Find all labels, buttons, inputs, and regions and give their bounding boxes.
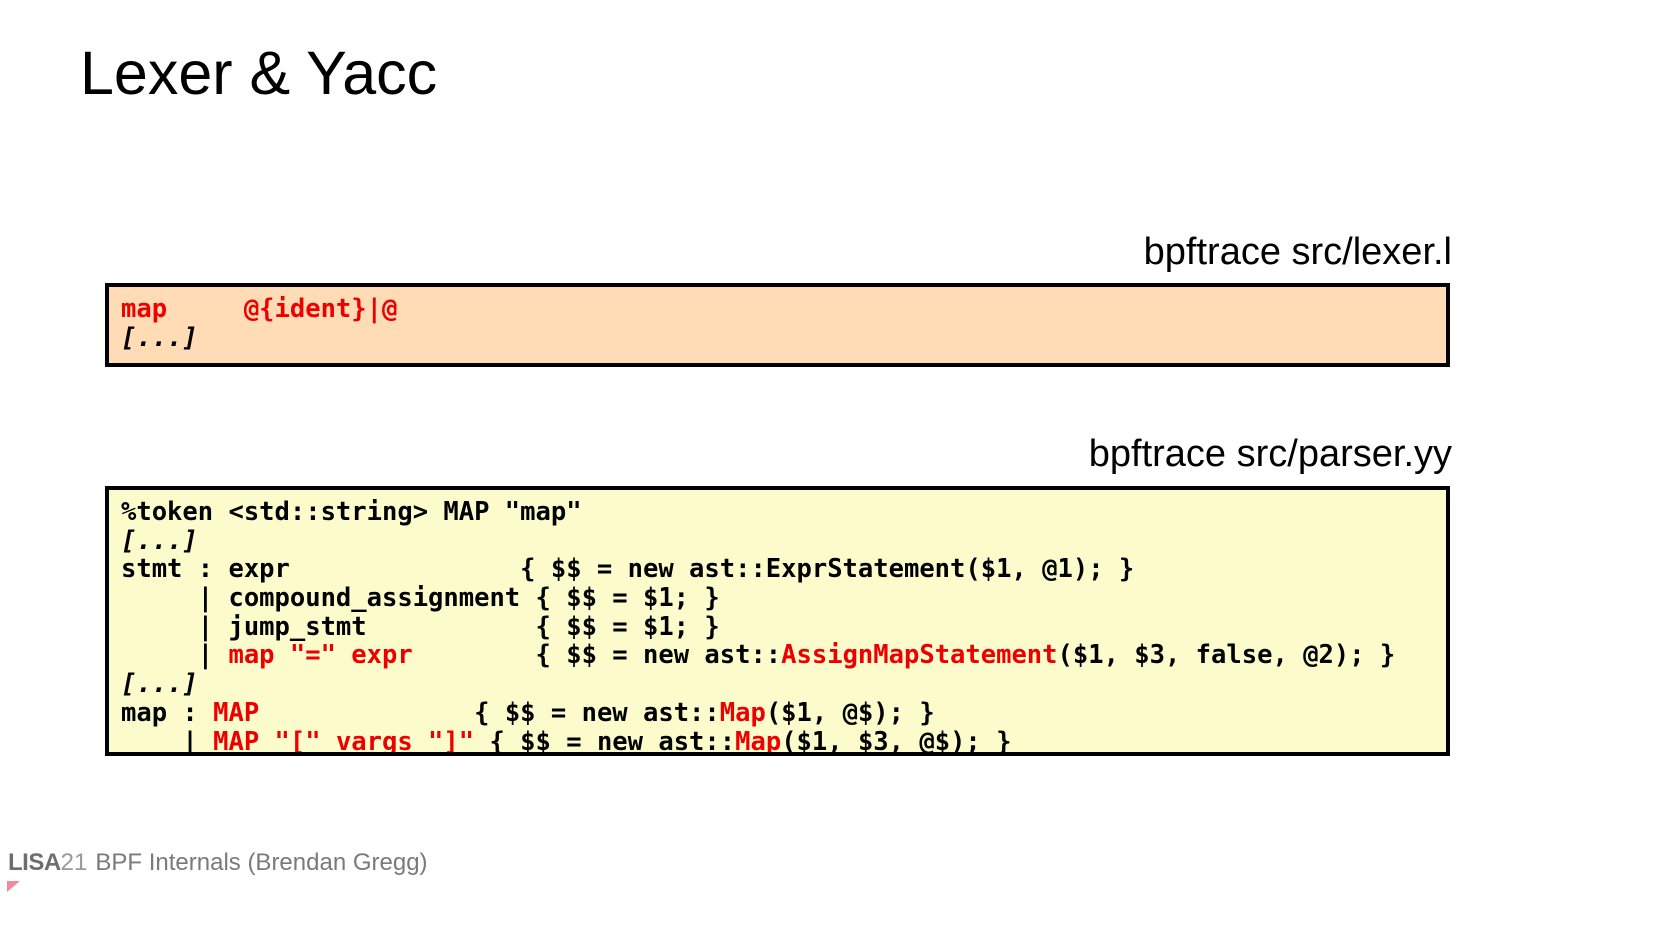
code-token: { $$ = new ast::: [413, 640, 781, 670]
code-token: %token <std::string> MAP "map": [121, 497, 582, 527]
code-line: | compound_assignment { $$ = $1; }: [121, 584, 1446, 613]
code-token: Map: [735, 727, 781, 757]
page-title: Lexer & Yacc: [80, 40, 437, 107]
code-token: { $$ = new ast::: [474, 727, 735, 757]
caption-parser-source: bpftrace src/parser.yy: [1089, 433, 1452, 476]
footer-label: BPF Internals (Brendan Gregg): [95, 849, 427, 877]
code-line: | jump_stmt { $$ = $1; }: [121, 613, 1446, 642]
code-token: | compound_assignment { $$ = $1; }: [121, 583, 720, 613]
code-token: stmt : expr { $$ = new ast::ExprStatemen…: [121, 554, 1134, 584]
code-token: AssignMapStatement: [781, 640, 1057, 670]
code-token: Map: [720, 698, 766, 728]
code-token: map @{ident}|@: [121, 294, 397, 324]
lisa-logo-mark-icon: [7, 881, 20, 892]
code-line: [...]: [121, 670, 1446, 699]
code-token: map :: [121, 698, 213, 728]
code-token: map "=" expr: [228, 640, 412, 670]
code-token: |: [121, 727, 213, 757]
code-token: |: [121, 640, 228, 670]
code-line: [...]: [121, 324, 1446, 353]
footer-year: 21: [61, 849, 88, 877]
code-token: ($1, @$); }: [766, 698, 935, 728]
code-line: stmt : expr { $$ = new ast::ExprStatemen…: [121, 555, 1446, 584]
footer-brand: LISA: [8, 849, 61, 877]
code-block-parser: %token <std::string> MAP "map"[...]stmt …: [105, 486, 1450, 756]
code-line: %token <std::string> MAP "map": [121, 498, 1446, 527]
code-token: | jump_stmt { $$ = $1; }: [121, 612, 720, 642]
code-token: [...]: [121, 323, 198, 353]
footer: LISA21 BPF Internals (Brendan Gregg): [8, 849, 428, 877]
code-token: MAP: [213, 698, 259, 728]
code-line: map @{ident}|@: [121, 295, 1446, 324]
code-token: ($1, $3, false, @2); }: [1058, 640, 1396, 670]
code-token: ($1, $3, @$); }: [781, 727, 1011, 757]
caption-lexer-source: bpftrace src/lexer.l: [1144, 231, 1452, 274]
code-token: [...]: [121, 526, 198, 556]
code-line: [...]: [121, 527, 1446, 556]
code-line: map : MAP { $$ = new ast::Map($1, @$); }: [121, 699, 1446, 728]
code-line: | map "=" expr { $$ = new ast::AssignMap…: [121, 641, 1446, 670]
code-token: { $$ = new ast::: [259, 698, 720, 728]
code-block-lexer: map @{ident}|@[...]: [105, 283, 1450, 367]
code-token: [...]: [121, 669, 198, 699]
code-line: | MAP "[" vargs "]" { $$ = new ast::Map(…: [121, 728, 1446, 757]
code-token: MAP "[" vargs "]": [213, 727, 474, 757]
